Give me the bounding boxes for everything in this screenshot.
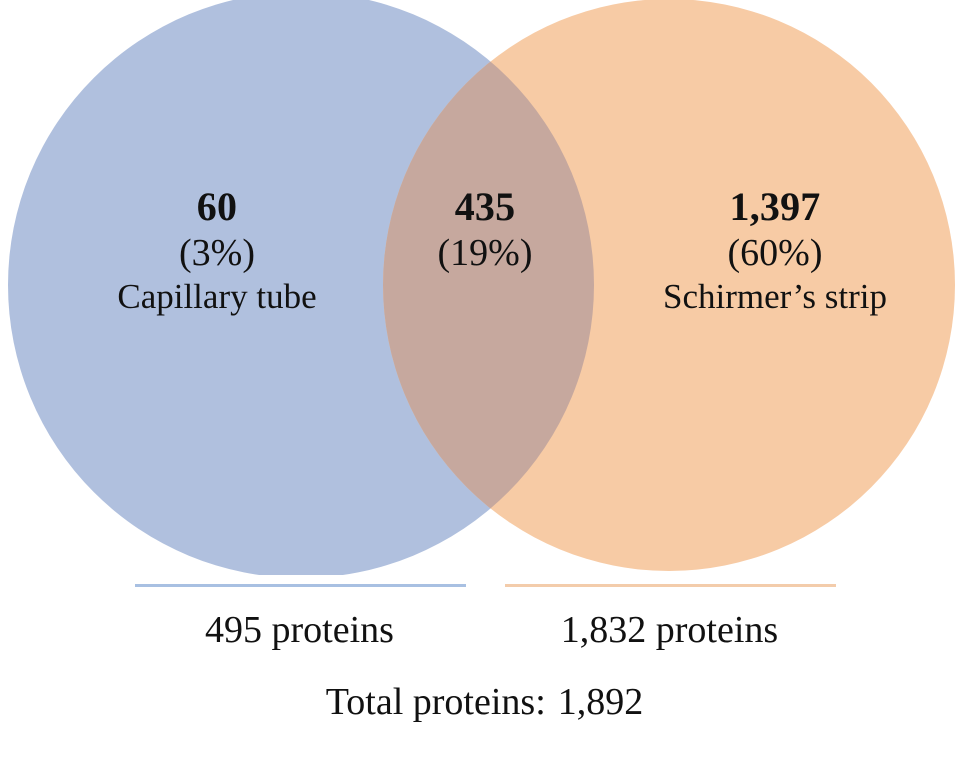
right-set-total: 1,832 proteins bbox=[485, 608, 855, 652]
venn-diagram-area: 60 (3%) Capillary tube 435 (19%) 1,397 (… bbox=[0, 0, 969, 575]
left-set-total: 495 proteins bbox=[115, 608, 485, 652]
left-unique-count: 60 bbox=[52, 185, 382, 230]
intersection-percent: (19%) bbox=[395, 232, 575, 275]
right-set-name: Schirmer’s strip bbox=[600, 277, 950, 316]
grand-total-value: 1,892 bbox=[558, 681, 644, 723]
grand-total-label: Total proteins: bbox=[326, 681, 546, 723]
venn-label-intersection: 435 (19%) bbox=[395, 185, 575, 274]
left-set-name: Capillary tube bbox=[52, 277, 382, 316]
venn-label-left: 60 (3%) Capillary tube bbox=[52, 185, 382, 317]
grand-total-row: Total proteins:1,892 bbox=[0, 680, 969, 724]
intersection-count: 435 bbox=[395, 185, 575, 230]
left-unique-percent: (3%) bbox=[52, 232, 382, 275]
right-total-rule bbox=[505, 584, 836, 587]
venn-label-right: 1,397 (60%) Schirmer’s strip bbox=[600, 185, 950, 317]
set-totals-row: 495 proteins 1,832 proteins bbox=[0, 608, 969, 652]
right-unique-count: 1,397 bbox=[600, 185, 950, 230]
left-total-rule bbox=[135, 584, 466, 587]
venn-figure: 60 (3%) Capillary tube 435 (19%) 1,397 (… bbox=[0, 0, 969, 760]
right-unique-percent: (60%) bbox=[600, 232, 950, 275]
